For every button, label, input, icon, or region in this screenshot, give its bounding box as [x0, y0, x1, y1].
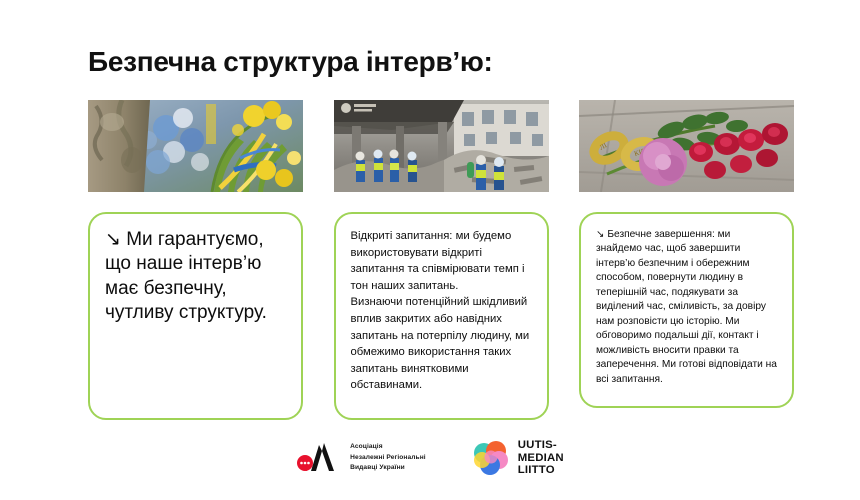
photo-roses-image: ЛІ КИ: [579, 100, 794, 192]
card-safe-ending: ↘ Безпечне завершення: ми знайдемо час, …: [579, 212, 794, 408]
airpu-logo: Асоціація Незалежні Регіональні Видавці …: [296, 441, 426, 475]
footer-logos: Асоціація Незалежні Регіональні Видавці …: [0, 434, 860, 482]
airpu-logo-text: Асоціація Незалежні Регіональні Видавці …: [350, 442, 426, 474]
card-safe-ending-text: ↘ Безпечне завершення: ми знайдемо час, …: [596, 228, 779, 387]
photo-roses-on-pavement: ЛІ КИ: [579, 100, 794, 192]
photo-soldier-with-flowers-image: [88, 100, 303, 192]
photo-soldier-with-flowers: [88, 100, 303, 192]
photo-rescuers-at-destroyed-building: [334, 100, 549, 192]
card-guarantee-text: ↘ Ми гарантуємо, що наше інтерв’ю має бе…: [105, 228, 288, 325]
card-guarantee: ↘ Ми гарантуємо, що наше інтерв’ю має бе…: [88, 212, 303, 420]
card-open-questions: Відкриті запитання: ми будемо використов…: [334, 212, 549, 420]
page-title: Безпечна структура інтерв’ю:: [88, 46, 493, 78]
slide-root: Безпечна структура інтерв’ю:: [0, 0, 860, 500]
columns-container: ↘ Ми гарантуємо, що наше інтерв’ю має бе…: [88, 100, 794, 415]
speech-bubble-and-letter-a-icon: [296, 441, 342, 475]
photo-rescuers-image: [334, 100, 549, 192]
column-3: ЛІ КИ: [579, 100, 794, 415]
column-1: ↘ Ми гарантуємо, що наше інтерв’ю має бе…: [88, 100, 303, 415]
uutismedian-liitto-logo-text: UUTIS- MEDIAN LIITTO: [518, 439, 564, 477]
colorful-overlapping-circles-icon: [472, 441, 510, 475]
uutismedian-liitto-logo: UUTIS- MEDIAN LIITTO: [472, 439, 564, 477]
card-open-questions-text: Відкриті запитання: ми будемо використов…: [351, 228, 534, 394]
column-2: Відкриті запитання: ми будемо використов…: [334, 100, 549, 415]
